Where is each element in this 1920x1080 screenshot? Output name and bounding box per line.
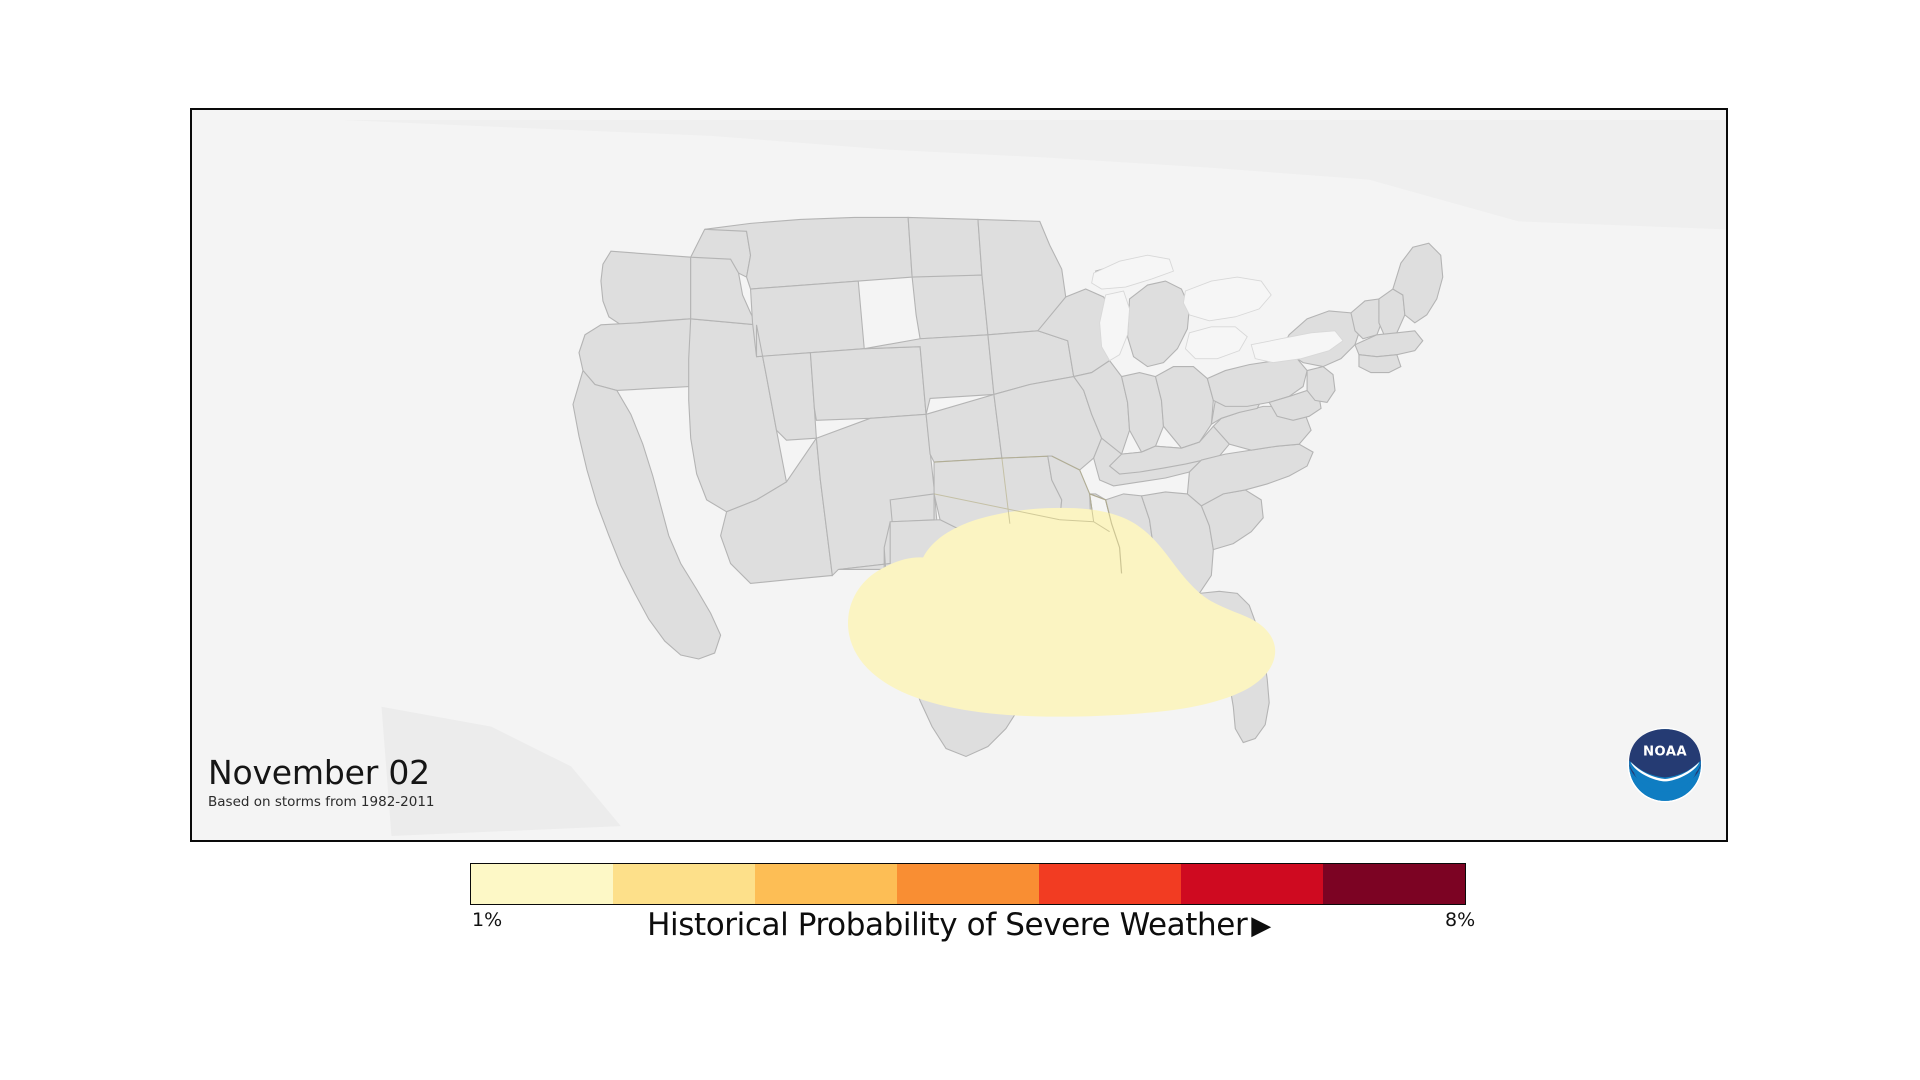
colorbar[interactable] xyxy=(470,863,1466,905)
us-map[interactable] xyxy=(192,110,1726,840)
map-frame[interactable]: November 02 Based on storms from 1982-20… xyxy=(190,108,1728,842)
colorbar-caption-text: Historical Probability of Severe Weather xyxy=(647,907,1247,943)
colorbar-band-6[interactable] xyxy=(1181,864,1323,904)
colorbar-band-7[interactable] xyxy=(1323,864,1465,904)
legend: 1% 8% Historical Probability of Severe W… xyxy=(190,855,1728,985)
noaa-wordmark: NOAA xyxy=(1643,745,1687,760)
colorbar-band-2[interactable] xyxy=(613,864,755,904)
colorbar-band-1[interactable] xyxy=(471,864,613,904)
map-page: November 02 Based on storms from 1982-20… xyxy=(0,0,1920,1080)
colorbar-band-3[interactable] xyxy=(755,864,897,904)
noaa-logo: NOAA xyxy=(1626,726,1704,804)
colorbar-caption: Historical Probability of Severe Weather… xyxy=(190,907,1728,943)
right-arrow-icon: ▶ xyxy=(1251,911,1271,941)
colorbar-band-5[interactable] xyxy=(1039,864,1181,904)
colorbar-band-4[interactable] xyxy=(897,864,1039,904)
